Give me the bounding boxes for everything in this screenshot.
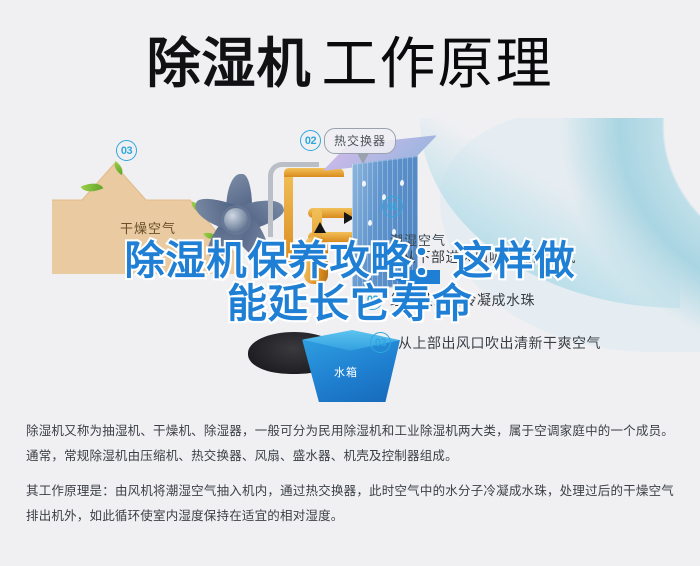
badge-02-heat-exchanger: 02 (300, 130, 321, 151)
title-part-one: 除湿机 (147, 37, 312, 91)
flow-arrow-down-icon (314, 248, 326, 259)
body-paragraph-2: 其工作原理是：由风机将潮湿空气抽入机内，通过热交换器，此时空气中的水分子冷凝成水… (26, 478, 674, 528)
step-text-01: 从下部进风口吸入潮湿空气 (402, 247, 576, 267)
compressor-cylinder (304, 236, 328, 284)
step-badge-01: 01 (374, 246, 395, 267)
flow-arrow-up-icon (314, 222, 326, 233)
page-title: 除湿机 工作原理 (0, 24, 700, 104)
heat-exchanger-callout: 热交换器 (324, 128, 396, 154)
dry-air-label: 干燥空气 (120, 218, 176, 237)
process-step: 03 从上部出风口吹出清新干爽空气 (370, 332, 694, 353)
dehumidifier-diagram: 干燥空气 03 (0, 118, 700, 410)
step-text-03: 从上部出风口吹出清新干爽空气 (398, 333, 601, 353)
step-badge-03: 03 (370, 332, 391, 353)
badge-03-dry-air: 03 (116, 140, 137, 161)
article-body: 除湿机又称为抽湿机、干燥机、除湿器，一般可分为民用除湿机和工业除湿机两大类，属于… (0, 418, 700, 538)
article-image-page: 除湿机 工作原理 干燥空气 03 (0, 0, 700, 566)
badge-01-humid-air: 01 (382, 196, 403, 217)
step-badge-02: 02 (362, 289, 383, 310)
process-step-list: 01 从下部进风口吸入潮湿空气 02 经过蒸发器冷凝成水珠 03 从上部出风口吹… (432, 246, 694, 375)
title-part-two: 工作原理 (322, 36, 554, 92)
process-step: 01 从下部进风口吸入潮湿空气 (374, 246, 694, 267)
fan-hub (224, 208, 248, 232)
pipe-segment (284, 168, 293, 264)
process-step: 02 经过蒸发器冷凝成水珠 (362, 289, 694, 310)
step-text-02: 经过蒸发器冷凝成水珠 (390, 290, 535, 310)
body-paragraph-1: 除湿机又称为抽湿机、干燥机、除湿器，一般可分为民用除湿机和工业除湿机两大类，属于… (26, 418, 674, 468)
water-tank-label: 水箱 (334, 364, 358, 380)
